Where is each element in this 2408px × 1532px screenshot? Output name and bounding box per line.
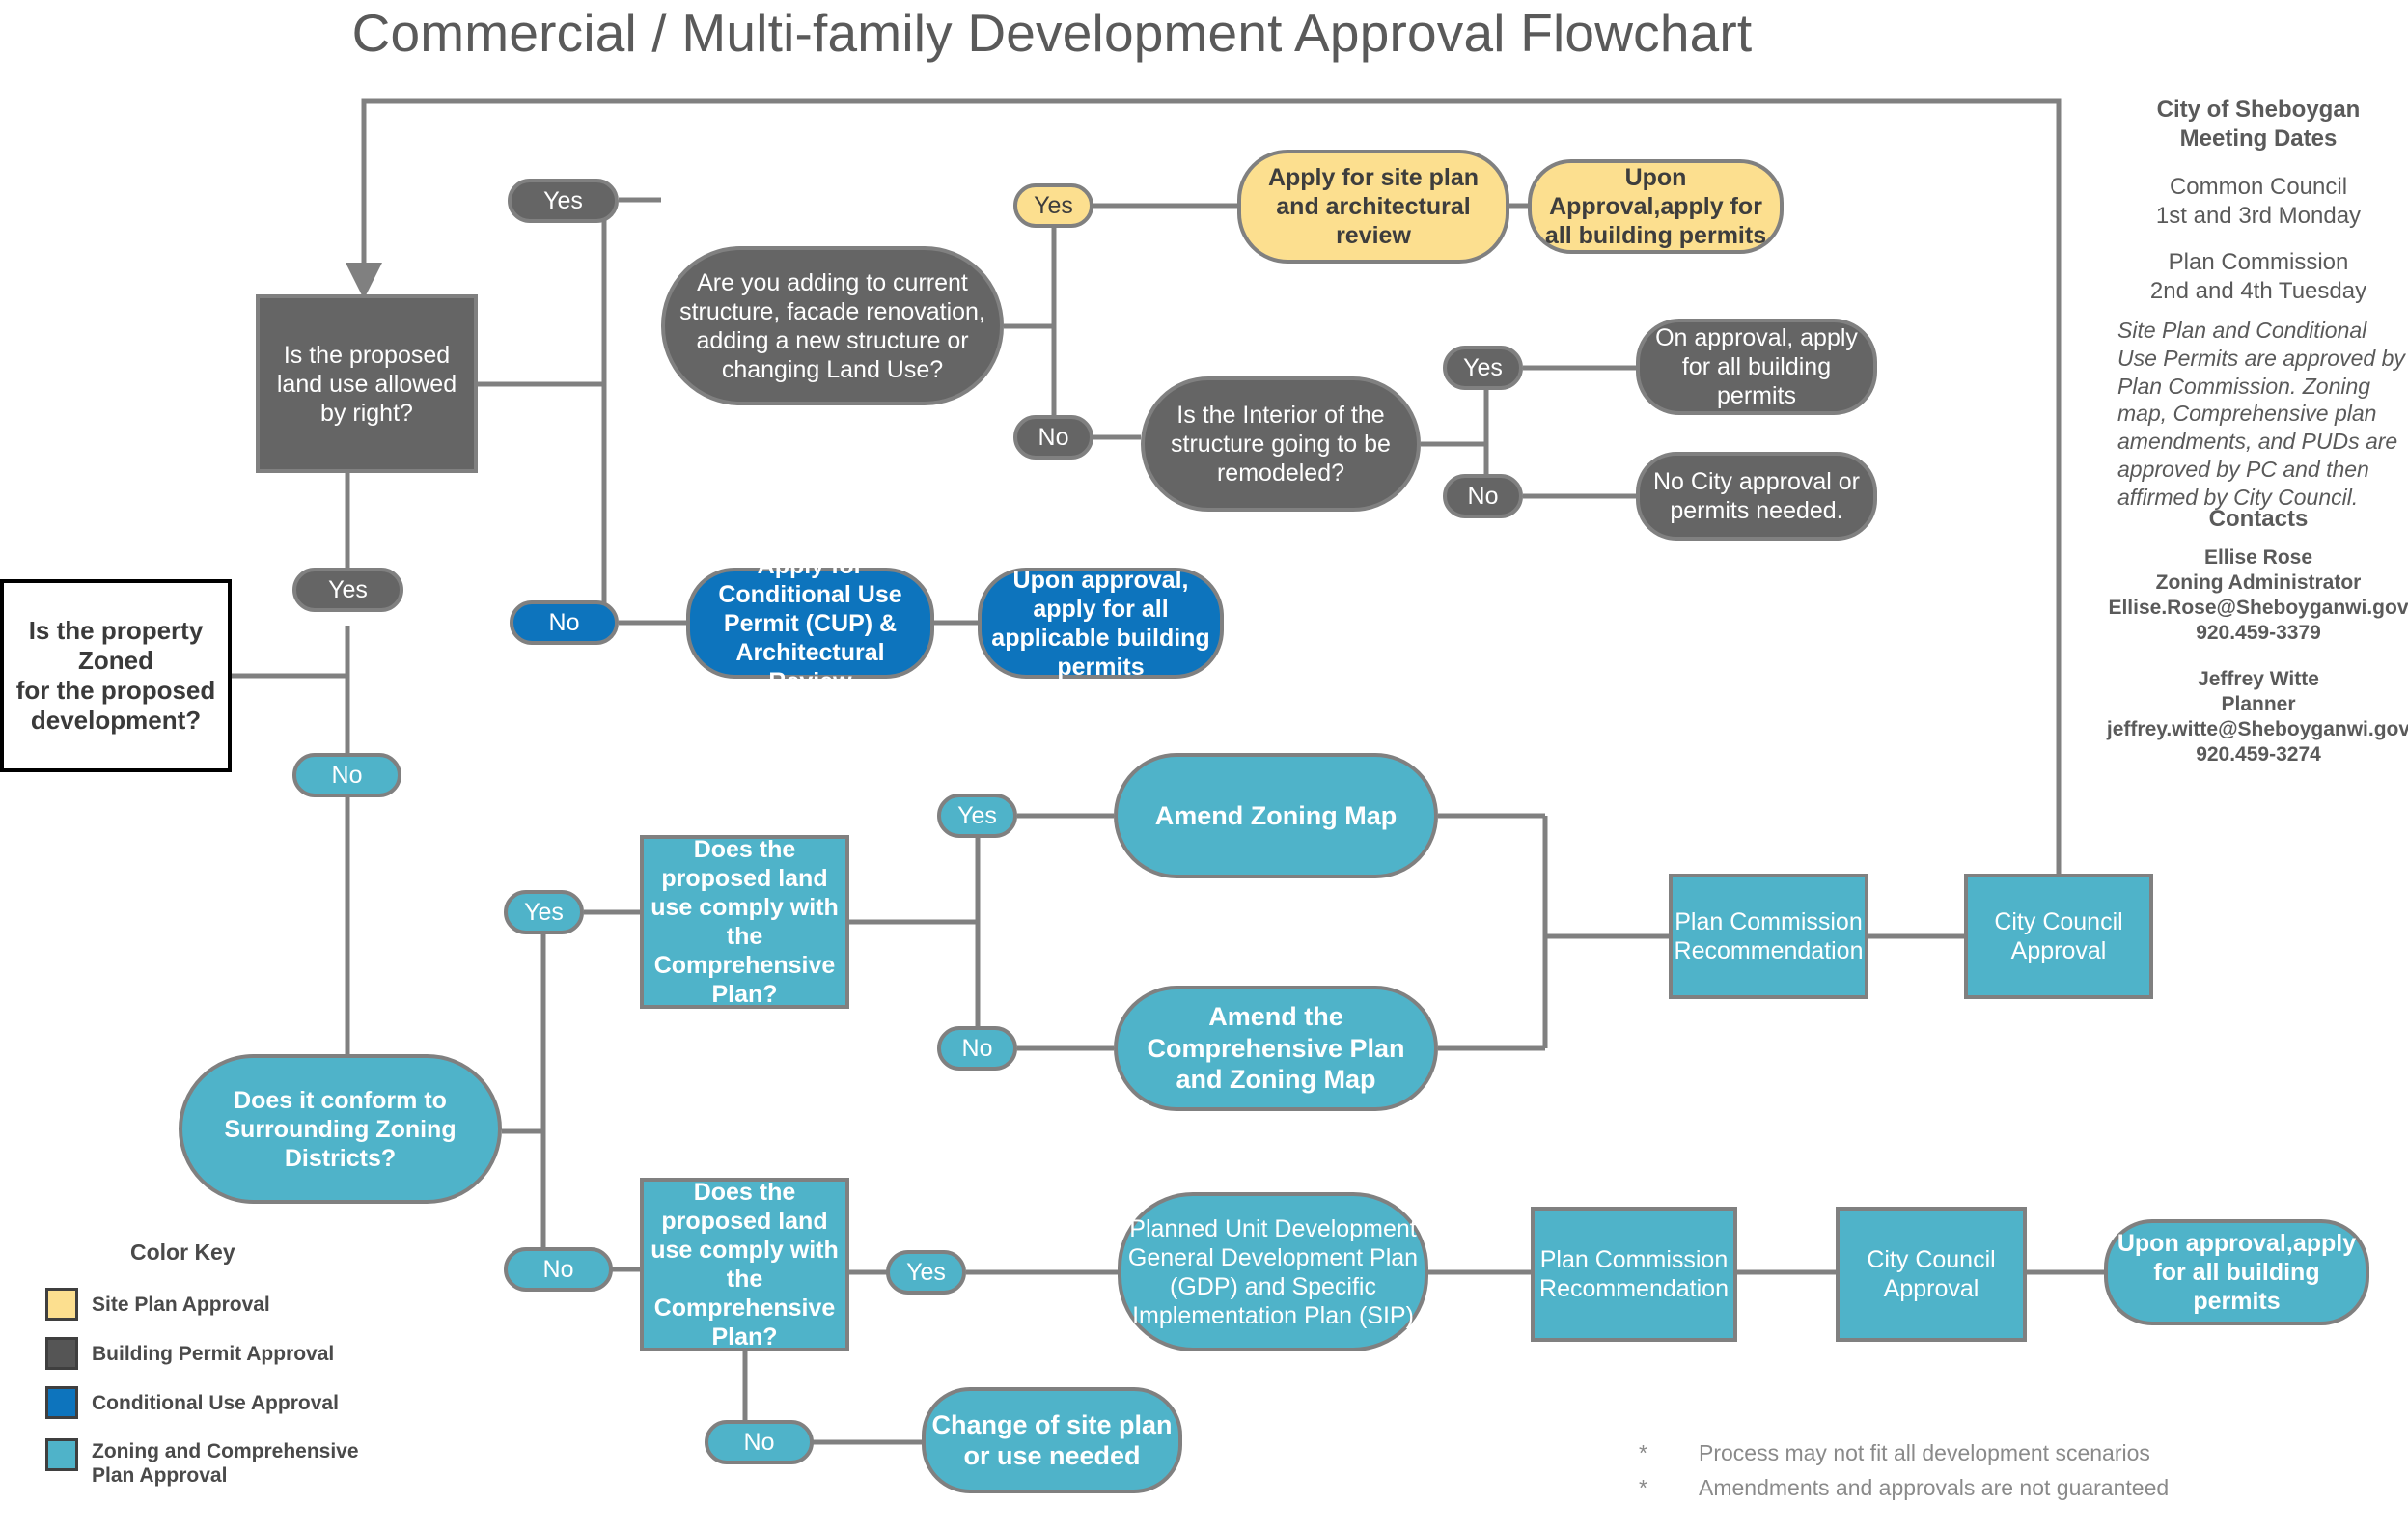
node-property-zoned[interactable]: Is the property Zoned for the proposed d… [0,579,232,772]
flowchart-canvas: Commercial / Multi-family Development Ap… [0,0,2408,1532]
badge-no-cup[interactable]: No [510,600,619,645]
badge-yes-down-grey[interactable]: Yes [292,568,403,612]
badge-yes-site-plan[interactable]: Yes [1013,183,1093,228]
badge-no-interior[interactable]: No [1443,474,1523,518]
legend-label-zoning-comp: Zoning and Comprehensive Plan Approval [92,1440,391,1489]
badge-yes-interior[interactable]: Yes [1443,346,1523,390]
badge-yes-comply-top[interactable]: Yes [504,890,584,934]
node-city-council-approval-bottom[interactable]: City Council Approval [1836,1207,2027,1342]
node-upon-approval-permits[interactable]: Upon Approval,apply for all building per… [1528,159,1784,254]
sidebar-commission-line1: Plan Commission [2114,249,2403,276]
node-cup-upon-approval[interactable]: Upon approval, apply for all applicable … [978,568,1224,679]
footnote-1-marker: * [1639,1475,1647,1501]
sidebar-heading-line1: City of Sheboygan [2114,97,2403,124]
legend-swatch-conditional-use [45,1386,78,1419]
node-interior-remodeled[interactable]: Is the Interior of the structure going t… [1141,376,1421,512]
node-city-council-approval-top[interactable]: City Council Approval [1964,874,2153,999]
badge-no-zoned[interactable]: No [292,753,401,797]
contact-1-role: Planner [2104,693,2408,716]
sidebar-note: Site Plan and Conditional Use Permits ar… [2117,317,2407,511]
sidebar-council-line1: Common Council [2114,174,2403,201]
legend-label-site-plan: Site Plan Approval [92,1294,410,1318]
badge-yes-right-grey[interactable]: Yes [508,179,619,223]
footnote-1-text: Amendments and approvals are not guarant… [1699,1475,2394,1501]
node-apply-cup[interactable]: Apply for Conditional Use Permit (CUP) &… [686,568,934,679]
contact-1-name: Jeffrey Witte [2104,668,2408,691]
legend-swatch-building-permit [45,1337,78,1370]
node-adding-to-structure[interactable]: Are you adding to current structure, fac… [661,246,1004,405]
node-comply-comp-plan-bottom[interactable]: Does the proposed land use comply with t… [640,1178,849,1351]
footnote-0-text: Process may not fit all development scen… [1699,1440,2394,1466]
legend-label-building-permit: Building Permit Approval [92,1343,410,1367]
legend-label-conditional-use: Conditional Use Approval [92,1392,410,1416]
node-amend-comp-plan[interactable]: Amend the Comprehensive Plan and Zoning … [1114,986,1438,1111]
node-apply-site-plan[interactable]: Apply for site plan and architectural re… [1237,150,1509,264]
badge-no-amend-comp[interactable]: No [937,1026,1017,1071]
sidebar-council-line2: 1st and 3rd Monday [2114,203,2403,230]
node-comply-comp-plan-top[interactable]: Does the proposed land use comply with t… [640,835,849,1009]
sidebar-commission-line2: 2nd and 4th Tuesday [2114,278,2403,305]
contact-0-role: Zoning Administrator [2104,571,2408,595]
contact-1-email[interactable]: jeffrey.witte@Sheboyganwi.gov [2104,718,2408,741]
legend-swatch-zoning-comp [45,1438,78,1471]
footnote-0-marker: * [1639,1440,1647,1466]
badge-no-conform[interactable]: No [504,1247,613,1292]
badge-yes-pud[interactable]: Yes [886,1250,966,1295]
node-amend-zoning-map[interactable]: Amend Zoning Map [1114,753,1438,878]
contact-0-email[interactable]: Ellise.Rose@Sheboyganwi.gov [2104,597,2408,620]
node-allowed-by-right[interactable]: Is the proposed land use allowed by righ… [256,294,478,473]
badge-no-change-site[interactable]: No [705,1420,814,1464]
node-upon-approval-permits-bottom[interactable]: Upon approval,apply for all building per… [2104,1219,2369,1325]
node-no-city-approval[interactable]: No City approval or permits needed. [1636,452,1877,541]
contact-0-name: Ellise Rose [2104,546,2408,570]
badge-yes-amend-zoning[interactable]: Yes [937,794,1017,838]
legend-title: Color Key [130,1240,235,1266]
badge-no-interior-branch[interactable]: No [1013,415,1093,460]
legend-swatch-site-plan [45,1288,78,1321]
node-conform-surrounding[interactable]: Does it conform to Surrounding Zoning Di… [179,1054,502,1204]
node-plan-commission-rec-top[interactable]: Plan Commission Recommendation [1669,874,1868,999]
node-plan-commission-rec-bottom[interactable]: Plan Commission Recommendation [1531,1207,1737,1342]
node-change-site-plan[interactable]: Change of site plan or use needed [922,1387,1182,1493]
page-title: Commercial / Multi-family Development Ap… [0,2,2104,64]
node-on-approval-permits[interactable]: On approval, apply for all building perm… [1636,319,1877,415]
sidebar-contacts-heading: Contacts [2114,506,2403,533]
contact-1-phone: 920.459-3274 [2104,743,2408,766]
sidebar-heading-line2: Meeting Dates [2114,125,2403,153]
node-pud[interactable]: Planned Unit Development General Develop… [1118,1192,1428,1351]
contact-0-phone: 920.459-3379 [2104,622,2408,645]
